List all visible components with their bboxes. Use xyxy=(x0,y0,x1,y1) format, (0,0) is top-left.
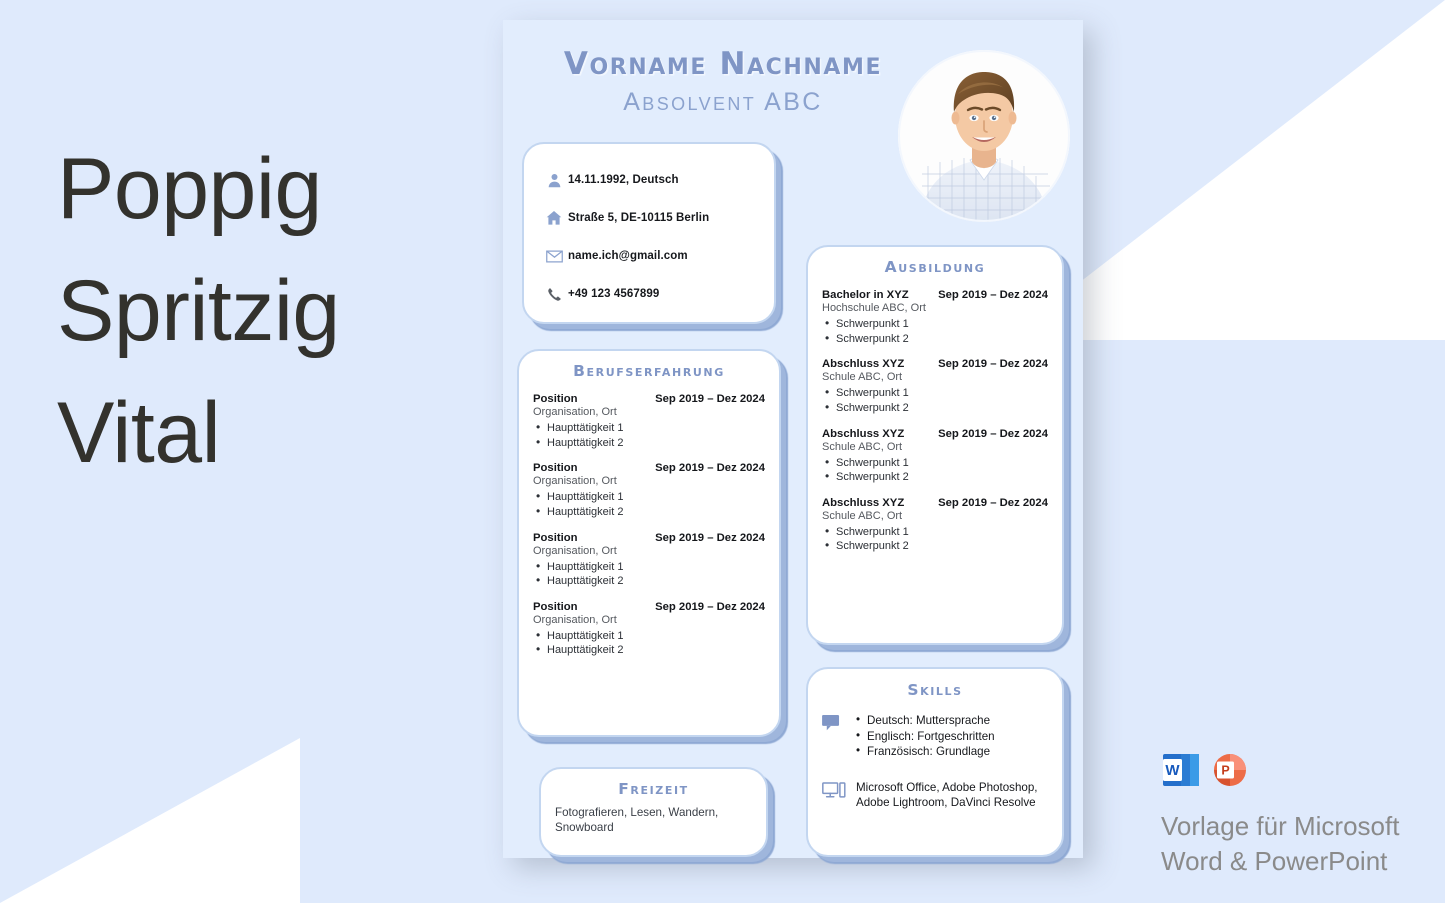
entry-role: Bachelor in XYZ xyxy=(822,289,909,301)
entry-bullets: Haupttätigkeit 1 Haupttätigkeit 2 xyxy=(533,629,765,658)
entry-role: Abschluss XYZ xyxy=(822,497,904,509)
contact-text: name.ich@gmail.com xyxy=(568,250,688,262)
experience-entry: Position Sep 2019 – Dez 2024 Organisatio… xyxy=(533,532,765,589)
skills-languages-block: Deutsch: Muttersprache Englisch: Fortges… xyxy=(822,713,1048,760)
entry-bullets: Haupttätigkeit 1 Haupttätigkeit 2 xyxy=(533,490,765,519)
language-item: Deutsch: Muttersprache xyxy=(856,713,995,729)
entry-date: Sep 2019 – Dez 2024 xyxy=(655,532,765,544)
entry-org: Schule ABC, Ort xyxy=(822,510,1048,522)
microsoft-word-icon: W xyxy=(1161,750,1201,795)
entry-bullet: Haupttätigkeit 1 xyxy=(533,490,765,505)
entry-date: Sep 2019 – Dez 2024 xyxy=(938,497,1048,509)
cv-page-preview[interactable]: Vorname Nachname Absolvent ABC xyxy=(503,20,1083,858)
entry-date: Sep 2019 – Dez 2024 xyxy=(938,358,1048,370)
section-title-education: Ausbildung xyxy=(822,258,1048,276)
home-icon xyxy=(540,210,568,226)
entry-bullets: Schwerpunkt 1 Schwerpunkt 2 xyxy=(822,456,1048,485)
education-entries: Bachelor in XYZ Sep 2019 – Dez 2024 Hoch… xyxy=(822,289,1048,554)
contact-row-address: Straße 5, DE-10115 Berlin xyxy=(540,199,758,237)
entry-bullet: Schwerpunkt 1 xyxy=(822,525,1048,540)
entry-bullets: Schwerpunkt 1 Schwerpunkt 2 xyxy=(822,317,1048,346)
education-entry: Abschluss XYZ Sep 2019 – Dez 2024 Schule… xyxy=(822,358,1048,415)
education-card[interactable]: Ausbildung Bachelor in XYZ Sep 2019 – De… xyxy=(806,245,1064,645)
experience-entry: Position Sep 2019 – Dez 2024 Organisatio… xyxy=(533,393,765,450)
entry-bullet: Haupttätigkeit 2 xyxy=(533,643,765,658)
entry-bullet: Schwerpunkt 1 xyxy=(822,317,1048,332)
entry-org: Schule ABC, Ort xyxy=(822,441,1048,453)
person-icon xyxy=(540,173,568,188)
microsoft-powerpoint-icon: P xyxy=(1211,751,1249,794)
contact-row-email[interactable]: name.ich@gmail.com xyxy=(540,237,758,275)
entry-bullet: Haupttätigkeit 1 xyxy=(533,560,765,575)
contact-row-phone[interactable]: +49 123 4567899 xyxy=(540,275,758,313)
section-title-skills: Skills xyxy=(822,681,1048,699)
entry-role: Position xyxy=(533,601,578,613)
entry-bullet: Schwerpunkt 2 xyxy=(822,539,1048,554)
brand-text-line-2: Word & PowerPoint xyxy=(1161,844,1399,879)
entry-role: Position xyxy=(533,532,578,544)
entry-org: Organisation, Ort xyxy=(533,475,765,487)
branding-block: W P Vorlage für Microsoft Word & PowerPo… xyxy=(1161,750,1399,878)
experience-card[interactable]: Berufserfahrung Position Sep 2019 – Dez … xyxy=(517,349,781,737)
brand-text-line-1: Vorlage für Microsoft xyxy=(1161,809,1399,844)
speech-bubble-icon xyxy=(822,713,856,736)
entry-role: Abschluss XYZ xyxy=(822,428,904,440)
contact-text: +49 123 4567899 xyxy=(568,288,659,300)
entry-bullet: Schwerpunkt 2 xyxy=(822,401,1048,416)
entry-bullets: Haupttätigkeit 1 Haupttätigkeit 2 xyxy=(533,421,765,450)
entry-bullet: Schwerpunkt 1 xyxy=(822,386,1048,401)
brand-icons: W P xyxy=(1161,750,1399,795)
svg-text:W: W xyxy=(1165,762,1180,779)
envelope-icon xyxy=(540,250,568,263)
entry-org: Organisation, Ort xyxy=(533,406,765,418)
skills-software-block: Microsoft Office, Adobe Photoshop, Adobe… xyxy=(822,780,1048,810)
contact-card[interactable]: 14.11.1992, Deutsch Straße 5, DE-10115 B… xyxy=(522,142,776,324)
phone-icon xyxy=(540,287,568,302)
entry-org: Organisation, Ort xyxy=(533,614,765,626)
education-entry: Abschluss XYZ Sep 2019 – Dez 2024 Schule… xyxy=(822,428,1048,485)
entry-bullets: Schwerpunkt 1 Schwerpunkt 2 xyxy=(822,525,1048,554)
desktop-computer-icon xyxy=(822,780,856,804)
entry-role: Position xyxy=(533,393,578,405)
experience-entries: Position Sep 2019 – Dez 2024 Organisatio… xyxy=(533,393,765,658)
entry-role: Abschluss XYZ xyxy=(822,358,904,370)
headline-line-1: Poppig xyxy=(57,128,340,250)
contact-text: Straße 5, DE-10115 Berlin xyxy=(568,212,709,224)
entry-date: Sep 2019 – Dez 2024 xyxy=(655,393,765,405)
entry-date: Sep 2019 – Dez 2024 xyxy=(938,428,1048,440)
svg-text:P: P xyxy=(1221,764,1229,778)
entry-bullet: Haupttätigkeit 2 xyxy=(533,436,765,451)
entry-bullet: Schwerpunkt 1 xyxy=(822,456,1048,471)
entry-date: Sep 2019 – Dez 2024 xyxy=(938,289,1048,301)
entry-bullet: Schwerpunkt 2 xyxy=(822,470,1048,485)
language-item: Englisch: Fortgeschritten xyxy=(856,729,995,745)
cv-job-title: Absolvent ABC xyxy=(533,88,913,117)
marketing-headline: Poppig Spritzig Vital xyxy=(57,128,340,494)
skills-card[interactable]: Skills Deutsch: Muttersprache Englisch: … xyxy=(806,667,1064,857)
entry-bullet: Schwerpunkt 2 xyxy=(822,332,1048,347)
entry-bullets: Schwerpunkt 1 Schwerpunkt 2 xyxy=(822,386,1048,415)
headline-line-2: Spritzig xyxy=(57,250,340,372)
entry-org: Schule ABC, Ort xyxy=(822,371,1048,383)
entry-bullet: Haupttätigkeit 1 xyxy=(533,421,765,436)
entry-org: Organisation, Ort xyxy=(533,545,765,557)
contact-row-birth: 14.11.1992, Deutsch xyxy=(540,161,758,199)
contact-text: 14.11.1992, Deutsch xyxy=(568,174,679,186)
language-item: Französisch: Grundlage xyxy=(856,744,995,760)
brand-text: Vorlage für Microsoft Word & PowerPoint xyxy=(1161,809,1399,878)
entry-bullets: Haupttätigkeit 1 Haupttätigkeit 2 xyxy=(533,560,765,589)
entry-date: Sep 2019 – Dez 2024 xyxy=(655,601,765,613)
hobbies-card[interactable]: Freizeit Fotografieren, Lesen, Wandern, … xyxy=(539,767,768,857)
cv-name: Vorname Nachname xyxy=(533,46,913,82)
section-title-experience: Berufserfahrung xyxy=(533,362,765,380)
education-entry: Abschluss XYZ Sep 2019 – Dez 2024 Schule… xyxy=(822,497,1048,554)
avatar xyxy=(898,50,1070,222)
entry-bullet: Haupttätigkeit 2 xyxy=(533,574,765,589)
entry-org: Hochschule ABC, Ort xyxy=(822,302,1048,314)
headline-line-3: Vital xyxy=(57,372,340,494)
hobbies-text: Fotografieren, Lesen, Wandern, Snowboard xyxy=(555,805,752,836)
experience-entry: Position Sep 2019 – Dez 2024 Organisatio… xyxy=(533,462,765,519)
entry-role: Position xyxy=(533,462,578,474)
entry-bullet: Haupttätigkeit 2 xyxy=(533,505,765,520)
experience-entry: Position Sep 2019 – Dez 2024 Organisatio… xyxy=(533,601,765,658)
language-list: Deutsch: Muttersprache Englisch: Fortges… xyxy=(856,713,995,760)
section-title-hobbies: Freizeit xyxy=(555,780,752,798)
entry-bullet: Haupttätigkeit 1 xyxy=(533,629,765,644)
portrait-photo xyxy=(898,50,1070,222)
education-entry: Bachelor in XYZ Sep 2019 – Dez 2024 Hoch… xyxy=(822,289,1048,346)
entry-date: Sep 2019 – Dez 2024 xyxy=(655,462,765,474)
software-text: Microsoft Office, Adobe Photoshop, Adobe… xyxy=(856,780,1048,810)
